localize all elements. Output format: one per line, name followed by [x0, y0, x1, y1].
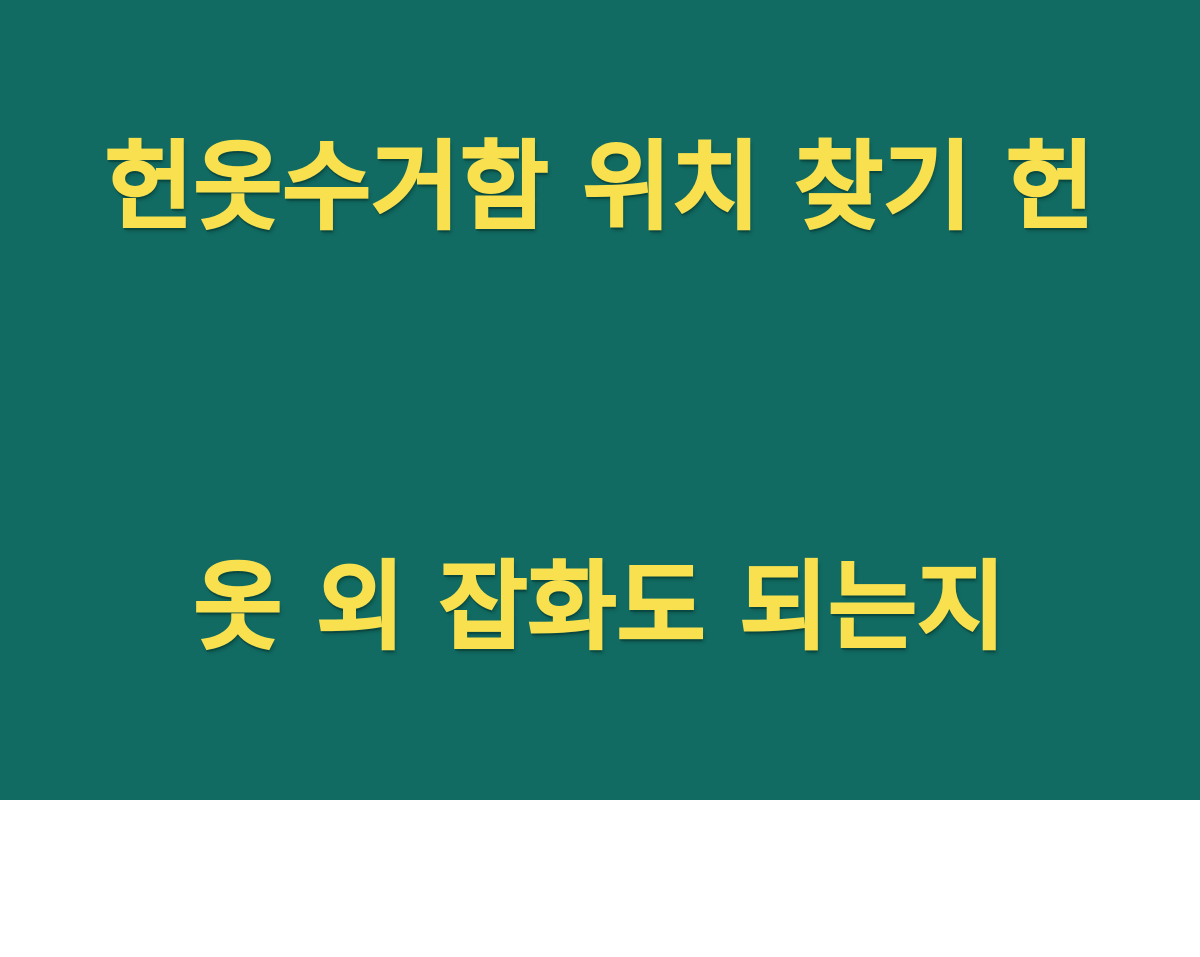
- headline-line-2: 옷 외 잡화도 되는지: [70, 537, 1130, 677]
- headline-line-1: 헌옷수거함 위치 찾기 헌: [70, 117, 1130, 257]
- title-card: 헌옷수거함 위치 찾기 헌 옷 외 잡화도 되는지: [0, 0, 1200, 800]
- page-title: 헌옷수거함 위치 찾기 헌 옷 외 잡화도 되는지: [70, 0, 1130, 957]
